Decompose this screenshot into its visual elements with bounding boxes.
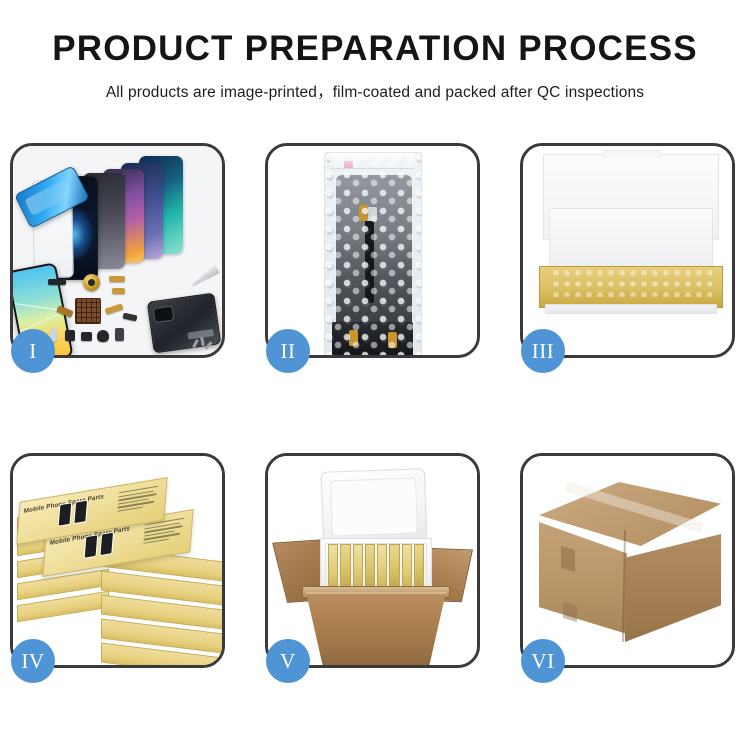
chip-grid-part xyxy=(75,298,101,324)
sealed-carton-right-face xyxy=(625,534,721,642)
carton-body xyxy=(306,592,446,665)
retail-box-spec-text xyxy=(117,485,160,514)
small-component-part xyxy=(115,328,124,341)
process-step-panel-5: V xyxy=(265,453,480,668)
product-preparation-infographic: PRODUCT PREPARATION PROCESS All products… xyxy=(0,0,750,750)
small-component-part xyxy=(123,313,138,322)
foam-sheet xyxy=(549,208,713,274)
retail-box-product-photos xyxy=(58,499,88,526)
step-badge-6: VI xyxy=(521,639,565,683)
screws-group xyxy=(192,335,214,353)
process-step-panel-2: II xyxy=(265,143,480,358)
step-1-image xyxy=(13,146,222,355)
process-step-panel-4: Mobile Phone Spare Parts Mobile Phone Sp… xyxy=(10,453,225,668)
small-component-part xyxy=(81,332,92,341)
speaker-coil-part xyxy=(83,274,100,291)
step-5-image xyxy=(268,456,477,665)
bubble-wrapped-contents xyxy=(552,269,712,297)
small-component-part xyxy=(65,330,75,341)
small-component-part xyxy=(97,330,109,342)
process-step-panel-6: VI xyxy=(520,453,735,668)
retail-box-stack: Mobile Phone Spare Parts Mobile Phone Sp… xyxy=(15,470,222,665)
step-badge-2: II xyxy=(266,329,310,373)
step-2-image xyxy=(268,146,477,355)
sealed-carton-left-face xyxy=(539,522,627,634)
tweezers-tool xyxy=(190,264,220,289)
bag-seal-top xyxy=(330,153,414,169)
flex-cable-part xyxy=(105,303,124,314)
process-step-panel-1: I xyxy=(10,143,225,358)
step-3-image xyxy=(523,146,732,355)
step-badge-1: I xyxy=(11,329,55,373)
step-6-image xyxy=(523,456,732,665)
retail-box-product-photos xyxy=(84,531,114,558)
process-step-grid: I II xyxy=(10,143,740,668)
small-component-part xyxy=(48,279,66,285)
flex-cable-part xyxy=(109,276,125,282)
inner-box-tray xyxy=(539,266,723,308)
step-badge-4: IV xyxy=(11,639,55,683)
header: PRODUCT PREPARATION PROCESS All products… xyxy=(0,0,750,102)
carton-tab xyxy=(563,602,577,622)
step-badge-5: V xyxy=(266,639,310,683)
inner-box-front-flap xyxy=(545,304,717,314)
foam-box-lid xyxy=(321,468,428,546)
page-subtitle: All products are image-printed，film-coat… xyxy=(0,80,750,102)
carton-tab xyxy=(561,546,575,572)
step-4-image: Mobile Phone Spare Parts Mobile Phone Sp… xyxy=(13,456,222,665)
flex-cable-part xyxy=(112,288,125,294)
retail-boxes-inside xyxy=(328,544,424,588)
step-badge-3: III xyxy=(521,329,565,373)
process-step-panel-3: III xyxy=(520,143,735,358)
page-title: PRODUCT PREPARATION PROCESS xyxy=(0,30,750,69)
bubble-texture xyxy=(325,153,421,355)
bubble-wrap-bag xyxy=(324,152,422,355)
